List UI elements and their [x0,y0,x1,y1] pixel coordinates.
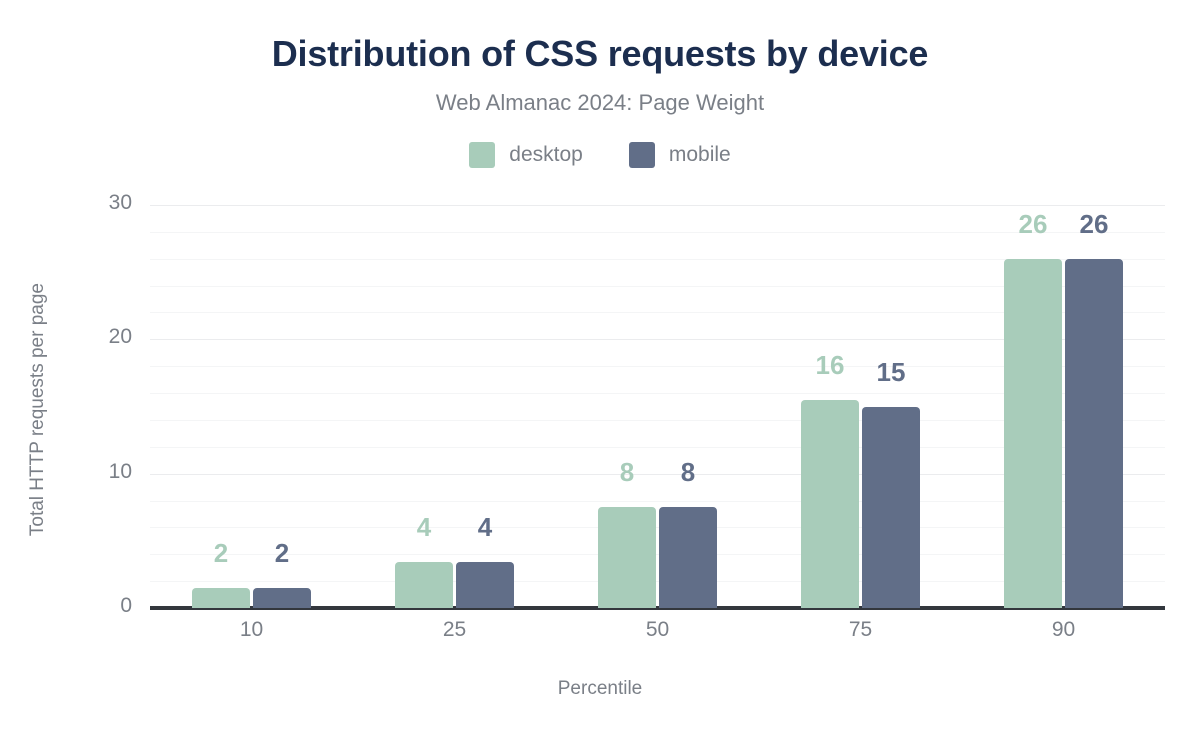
bar-mobile-75[interactable] [862,407,920,609]
bar-desktop-10[interactable] [192,588,250,608]
bar-desktop-75[interactable] [801,400,859,608]
bar-mobile-90[interactable] [1065,259,1123,608]
y-axis-tick-label: 30 [60,191,132,215]
chart-title: Distribution of CSS requests by device [0,33,1200,75]
legend-label-mobile: mobile [669,143,731,167]
bar-value-label-mobile-75: 15 [877,357,906,388]
bar-value-label-desktop-25: 4 [417,512,431,543]
legend-swatch-mobile [629,142,655,168]
bar-desktop-25[interactable] [395,562,453,608]
bar-desktop-50[interactable] [598,507,656,608]
legend-label-desktop: desktop [509,143,583,167]
bar-value-label-desktop-90: 26 [1019,209,1048,240]
x-axis-title: Percentile [0,678,1200,700]
bar-value-label-desktop-10: 2 [214,538,228,569]
gridline [150,232,1165,233]
bar-mobile-10[interactable] [253,588,311,608]
bar-value-label-mobile-50: 8 [681,457,695,488]
y-axis-title: Total HTTP requests per page [18,240,58,580]
x-axis-tick-label: 50 [646,618,669,642]
y-axis-tick-label: 20 [60,325,132,349]
bar-value-label-mobile-25: 4 [478,512,492,543]
bar-value-label-desktop-75: 16 [816,350,845,381]
bar-value-label-mobile-10: 2 [275,538,289,569]
x-axis-tick-label: 10 [240,618,263,642]
y-axis-tick-label: 0 [60,594,132,618]
bar-value-label-mobile-90: 26 [1080,209,1109,240]
x-axis-tick-label: 75 [849,618,872,642]
legend-item-mobile[interactable]: mobile [629,142,731,168]
chart-subtitle: Web Almanac 2024: Page Weight [0,90,1200,116]
bar-desktop-90[interactable] [1004,259,1062,608]
chart-container: Distribution of CSS requests by device W… [0,0,1200,742]
y-axis-title-text: Total HTTP requests per page [27,283,49,536]
legend-swatch-desktop [469,142,495,168]
bar-mobile-50[interactable] [659,507,717,608]
gridline [150,205,1165,206]
chart-legend: desktop mobile [0,142,1200,168]
x-axis-tick-label: 90 [1052,618,1075,642]
x-axis-tick-label: 25 [443,618,466,642]
bar-value-label-desktop-50: 8 [620,457,634,488]
bar-mobile-25[interactable] [456,562,514,608]
y-axis-tick-label: 10 [60,460,132,484]
legend-item-desktop[interactable]: desktop [469,142,583,168]
